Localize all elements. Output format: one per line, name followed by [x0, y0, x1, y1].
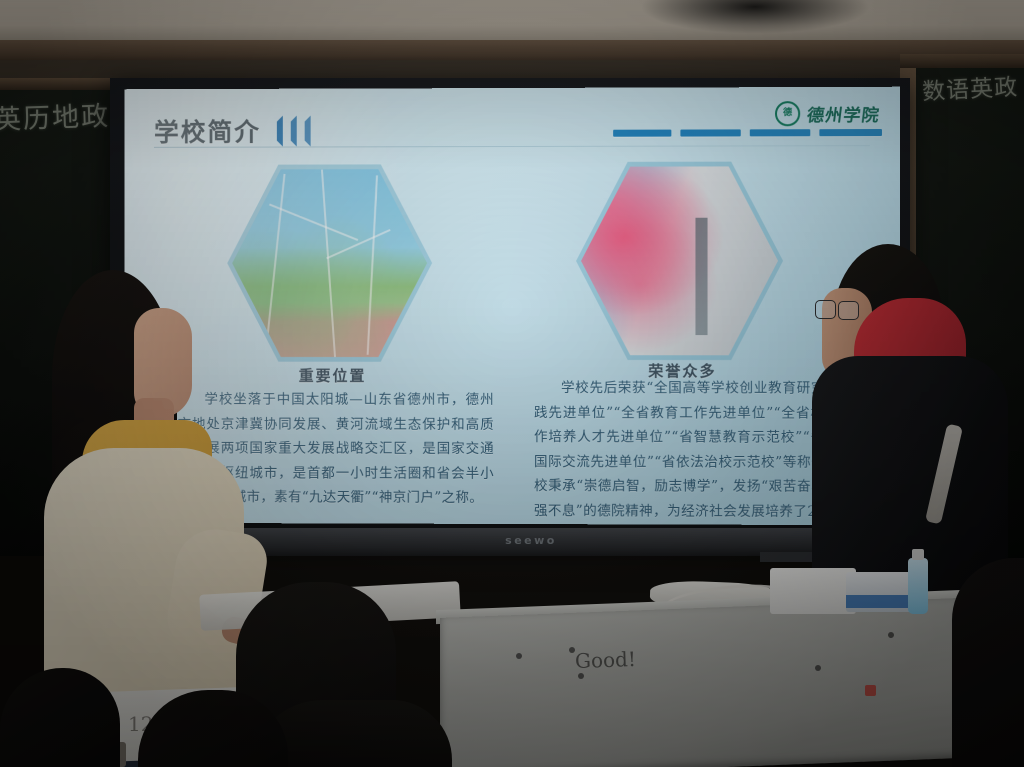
triple-chevron-right-icon — [269, 115, 311, 146]
podium-mark-4 — [815, 665, 821, 671]
blackboard-top-trim-left — [0, 78, 124, 90]
student-head-3 — [952, 558, 1024, 767]
podium-written-text: Good! — [575, 647, 637, 673]
slide-title-group: 学校简介 — [154, 113, 311, 149]
logo-emblem-letter: 德 — [783, 109, 792, 118]
classroom-photo: 英历地政 数语英政 学校简介 德 德州学院 — [0, 0, 1024, 767]
blackboard-top-trim-right — [900, 54, 1024, 68]
chalk-text-right: 数语英政 — [921, 68, 1019, 107]
spray-bottle — [908, 558, 928, 614]
tissue-box — [770, 568, 856, 614]
photo-building-detail — [695, 218, 707, 336]
spray-bottle-cap — [912, 549, 924, 560]
student-head-4 — [0, 668, 120, 767]
display-brand-label: seewo — [486, 534, 576, 550]
university-logo: 德 德州学院 — [775, 101, 880, 126]
page-title: 学校简介 — [154, 113, 261, 149]
hex-photo-campus — [232, 165, 427, 361]
photo-detail-lines-1 — [232, 165, 427, 361]
teacher-podium — [440, 598, 960, 767]
chalk-text-left: 英历地政 — [0, 94, 111, 137]
decorative-dashes — [613, 129, 882, 137]
podium-mark-2 — [578, 673, 584, 679]
hex-photo-caption-1: 重要位置 — [283, 365, 382, 386]
podium-mark-1 — [569, 647, 575, 653]
podium-mark-3 — [516, 653, 522, 659]
logo-text: 德州学院 — [806, 101, 882, 126]
ceiling-fixture-shadow — [640, 0, 870, 34]
presenter-left — [22, 270, 252, 730]
podium-mark-5 — [888, 632, 894, 638]
podium-red-sticker — [865, 685, 876, 696]
logo-emblem-icon: 德 — [775, 101, 800, 126]
glasses-icon — [815, 300, 859, 320]
podium-supplies — [650, 562, 950, 618]
hex-photo-blossom — [581, 162, 778, 359]
